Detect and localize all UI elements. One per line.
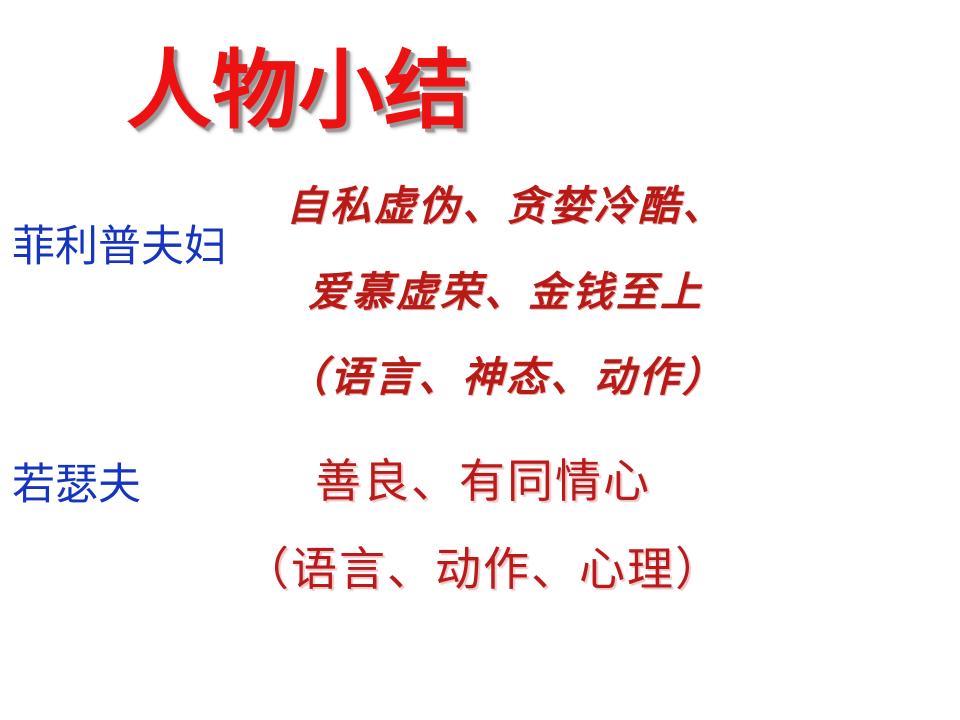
trait-line: 善良、有同情心: [238, 458, 728, 504]
page-title: 人物小结: [126, 48, 470, 134]
character-name-label: 菲利普夫妇: [12, 226, 227, 269]
character-row-joseph: 若瑟夫 善良、有同情心 （语言、动作、心理）: [0, 452, 960, 632]
trait-line-techniques: （语言、动作、心理）: [238, 546, 728, 592]
slide-canvas: 人物小结 菲利普夫妇 自私虚伪、贪婪冷酷、 爱慕虚荣、金钱至上 （语言、神态、动…: [0, 0, 960, 720]
trait-line: 自私虚伪、贪婪冷酷、: [256, 186, 756, 227]
trait-line: 爱慕虚荣、金钱至上: [256, 272, 756, 313]
character-row-philippe-couple: 菲利普夫妇 自私虚伪、贪婪冷酷、 爱慕虚荣、金钱至上 （语言、神态、动作）: [0, 178, 960, 418]
trait-line-techniques: （语言、神态、动作）: [256, 357, 756, 398]
character-name-label: 若瑟夫: [12, 464, 141, 507]
character-traits-philippe-couple: 自私虚伪、贪婪冷酷、 爱慕虚荣、金钱至上 （语言、神态、动作）: [256, 178, 756, 398]
character-traits-joseph: 善良、有同情心 （语言、动作、心理）: [238, 452, 728, 592]
